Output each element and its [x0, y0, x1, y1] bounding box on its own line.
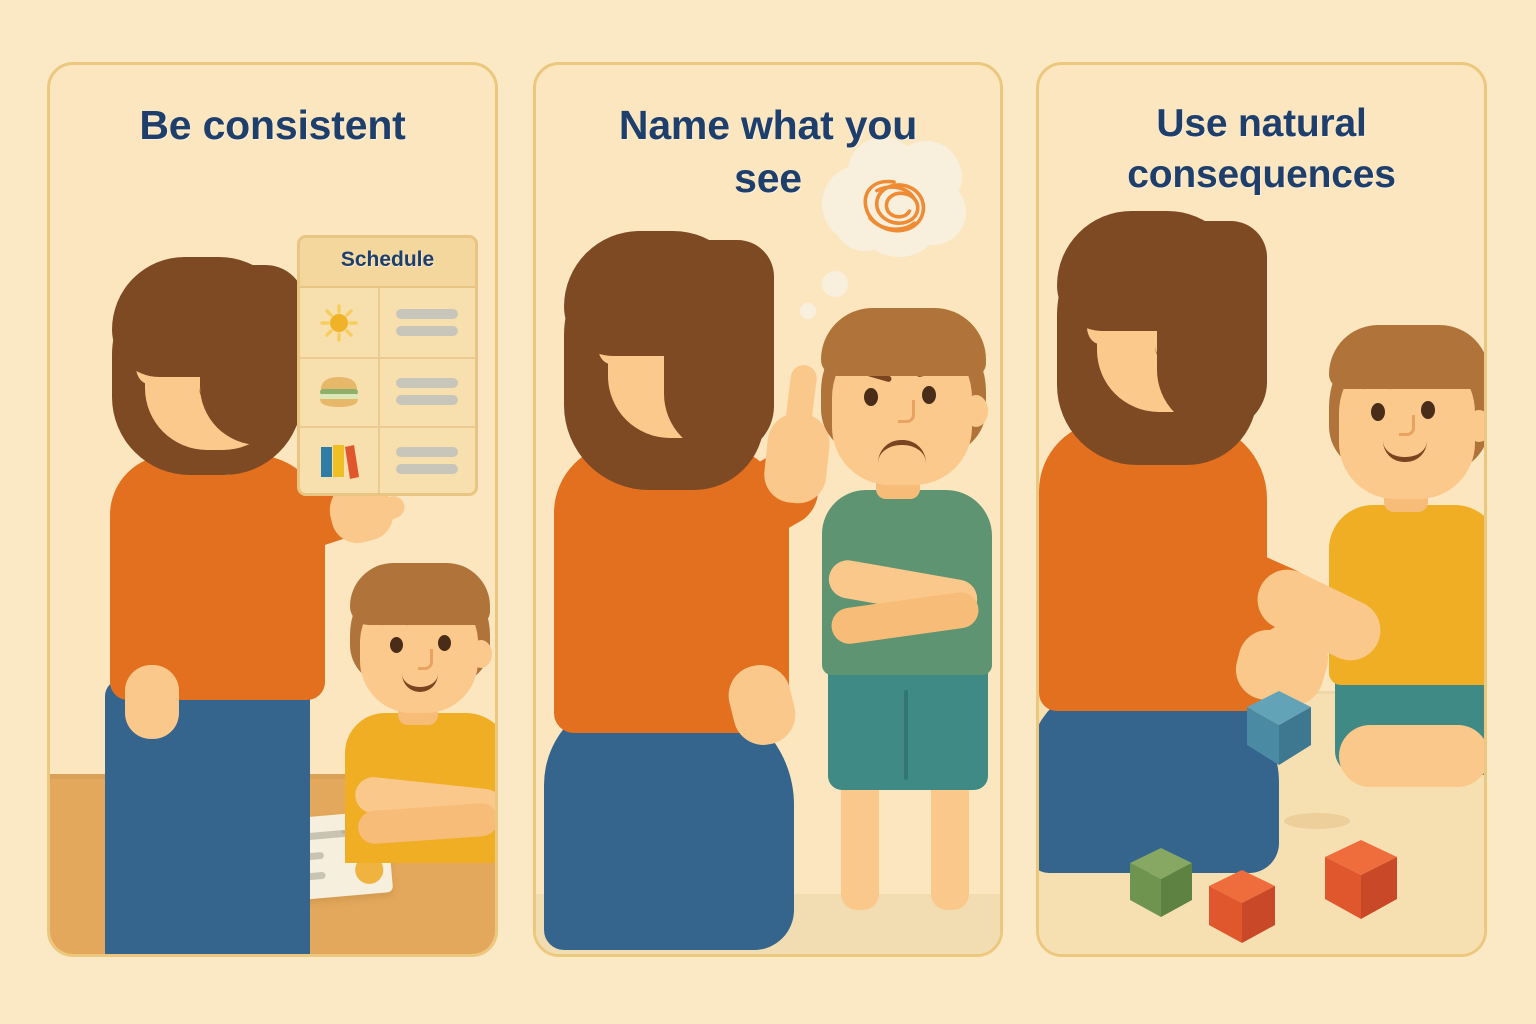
schedule-row — [300, 357, 475, 428]
placeholder-bar — [396, 464, 458, 474]
schedule-row-bars — [380, 426, 475, 495]
child-frown — [878, 440, 926, 463]
placeholder-bar — [396, 447, 458, 457]
child-bangs — [821, 308, 986, 376]
child-bangs — [1329, 325, 1487, 389]
schedule-board[interactable]: Schedule — [297, 235, 478, 496]
thought-bubble-dot-large — [822, 271, 848, 297]
child-eye-right — [1421, 401, 1435, 419]
panel-2-title: Name what you see — [536, 99, 1000, 206]
burger-icon — [316, 373, 362, 411]
mother-hair-sweep — [200, 265, 305, 445]
child-smile — [1383, 441, 1427, 462]
child-eye-right — [438, 635, 451, 651]
child-shorts — [828, 665, 988, 790]
child-smile — [402, 673, 438, 692]
child-eye-right — [922, 386, 936, 404]
child-bangs — [350, 563, 490, 625]
panel-name-what-you-see: Name what you see — [533, 62, 1003, 957]
child-leg — [1339, 725, 1487, 787]
panel-be-consistent: Be consistent — [47, 62, 498, 957]
panel-1-scene: Schedule — [50, 65, 495, 954]
sun-icon — [317, 301, 361, 345]
child-nose — [898, 400, 915, 423]
child-nose — [1399, 415, 1415, 436]
panel-1-title: Be consistent — [50, 99, 495, 152]
placeholder-bar — [396, 309, 458, 319]
block-orange-small[interactable] — [1203, 865, 1281, 949]
schedule-row — [300, 288, 475, 359]
panel-use-natural-consequences: Use natural consequences — [1036, 62, 1487, 957]
child-nose — [418, 649, 433, 670]
block-blue-held[interactable] — [1239, 685, 1319, 771]
block-green[interactable] — [1124, 843, 1198, 923]
placeholder-bar — [396, 395, 458, 405]
placeholder-bar — [396, 378, 458, 388]
child-leg-left — [841, 780, 879, 910]
schedule-row-bars — [380, 288, 475, 357]
child-leg-right — [931, 780, 969, 910]
mother-hair-sweep — [1157, 221, 1267, 431]
child-shorts-seam — [904, 690, 908, 780]
mother-hair-sweep — [664, 240, 774, 455]
mother-left-hand — [125, 665, 179, 739]
schedule-row-icon-cell — [300, 357, 380, 426]
block-orange-large[interactable] — [1319, 835, 1403, 925]
schedule-row-icon-cell — [300, 288, 380, 357]
thought-bubble-dot-small — [800, 303, 816, 319]
panel-3-title: Use natural consequences — [1039, 99, 1484, 200]
schedule-row-icon-cell — [300, 426, 380, 495]
block-shadow — [1284, 813, 1350, 829]
schedule-row — [300, 426, 475, 495]
child-eye-left — [864, 388, 878, 406]
placeholder-bar — [396, 326, 458, 336]
child-eye-left — [1371, 403, 1385, 421]
child-eye-left — [390, 637, 403, 653]
mother-torso — [110, 455, 325, 700]
books-icon — [315, 441, 363, 481]
schedule-row-bars — [380, 357, 475, 426]
illustration-canvas: Be consistent — [0, 0, 1536, 1024]
schedule-board-title: Schedule — [300, 248, 475, 272]
